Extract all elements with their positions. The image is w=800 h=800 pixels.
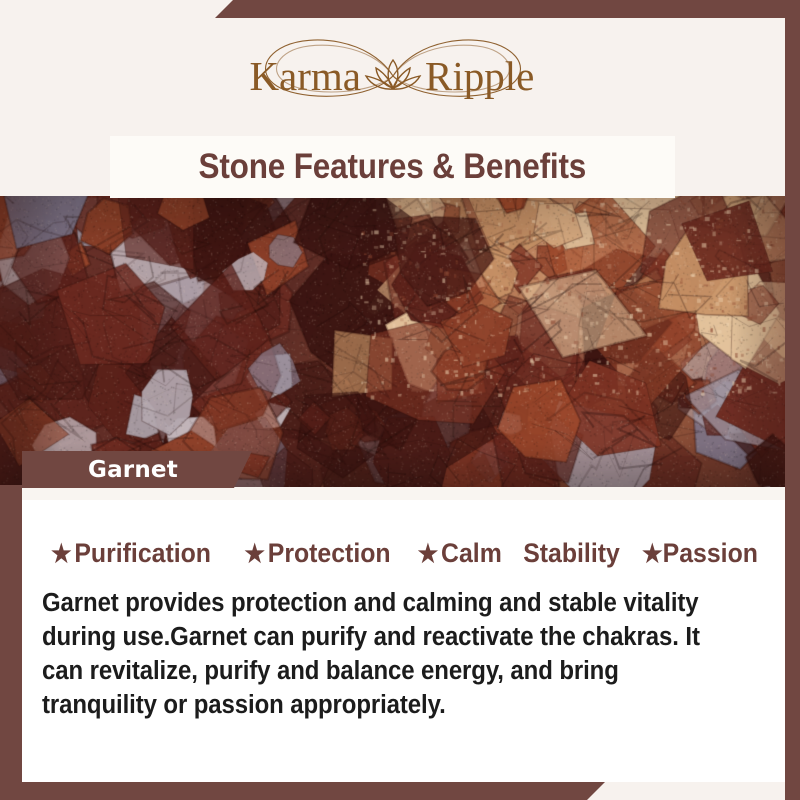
- content-panel: ★Purification★Protection★CalmStability★P…: [22, 487, 785, 782]
- frame-top-bar: [215, 0, 800, 18]
- stone-description: Garnet provides protection and calming a…: [42, 586, 720, 722]
- brand-name-left: Karma: [249, 53, 361, 99]
- stone-name-banner: Garnet: [22, 451, 252, 488]
- lotus-icon: [366, 60, 420, 89]
- frame-bottom-bar: [0, 782, 605, 800]
- garnet-crystal-cluster-photo: [0, 196, 785, 487]
- feature-item-stability: Stability: [523, 538, 620, 569]
- feature-item-protection: ★Protection: [245, 538, 391, 569]
- feature-label: Purification: [75, 538, 212, 569]
- feature-item-passion: ★Passion: [642, 538, 758, 569]
- brand-logo-svg: Karma Ripple: [193, 28, 593, 124]
- star-icon: ★: [642, 542, 663, 567]
- feature-item-calm: ★Calm: [418, 538, 502, 569]
- star-icon: ★: [418, 542, 439, 567]
- brand-name-right: Ripple: [425, 53, 534, 99]
- feature-item-purification: ★Purification: [51, 538, 211, 569]
- product-infographic: Karma Ripple Stone Features & Benefits G…: [0, 0, 800, 800]
- stone-name-label: Garnet: [88, 457, 178, 483]
- feature-label: Protection: [268, 538, 391, 569]
- page-title: Stone Features & Benefits: [199, 147, 587, 187]
- star-icon: ★: [245, 542, 266, 567]
- feature-label: Passion: [662, 538, 757, 569]
- stone-photo: [0, 196, 785, 487]
- feature-label: Calm: [441, 538, 502, 569]
- section-title-band: Stone Features & Benefits: [110, 136, 675, 198]
- frame-right-bar: [785, 0, 800, 800]
- feature-label: Stability: [523, 538, 620, 569]
- content-white-area: ★Purification★Protection★CalmStability★P…: [22, 500, 785, 782]
- star-icon: ★: [51, 542, 72, 567]
- feature-list: ★Purification★Protection★CalmStability★P…: [22, 538, 785, 569]
- brand-logo[interactable]: Karma Ripple: [193, 28, 593, 124]
- frame-left-bar: [0, 485, 22, 800]
